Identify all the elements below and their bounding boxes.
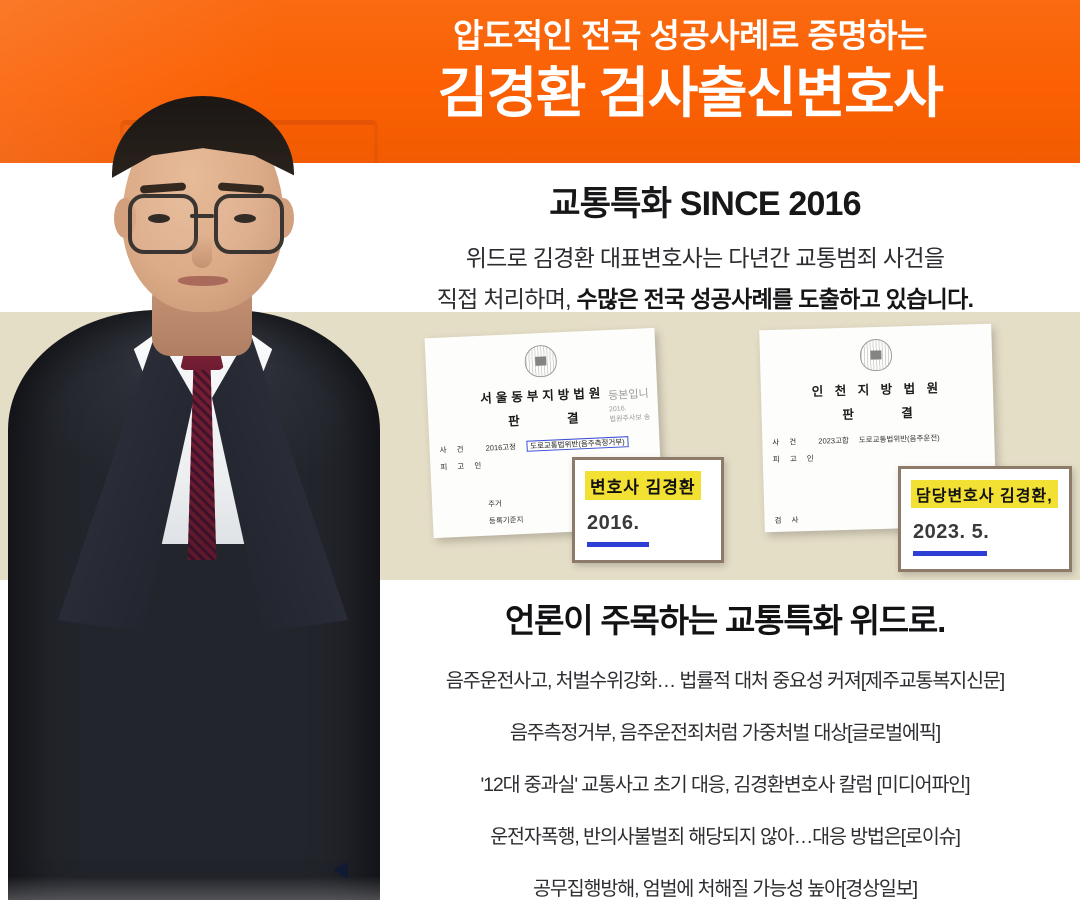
stamp-line-1: 등본입니 (608, 386, 650, 405)
advertisement-banner: 압도적인 전국 성공사례로 증명하는 김경환 검사출신변호사 교통특화 SINC… (0, 0, 1080, 900)
callout-highlight-text: 변호사 김경환 (585, 471, 701, 500)
eyeglasses-lens-right (214, 194, 284, 254)
field-value: 2023고합 (818, 437, 849, 445)
field-value: 2016고정 (485, 443, 516, 452)
callout-underline-bar (913, 551, 987, 556)
mouth (178, 276, 228, 286)
field-label (443, 521, 489, 523)
callout-document-2: 담당변호사 김경환, 2023. 5. (898, 466, 1072, 572)
callout-date: 2023. 5. (913, 521, 989, 544)
intro-block: 교통특화 SINCE 2016 위드로 김경환 대표변호사는 다년간 교통범죄 … (330, 166, 1080, 314)
certified-copy-stamp: 등본입니 2016. 법원주사보 송 (608, 386, 651, 426)
intro-paragraph-line1: 위드로 김경환 대표변호사는 다년간 교통범죄 사건을 (330, 239, 1080, 273)
eyeglasses-lens-left (128, 194, 198, 254)
field-label: 피 고 인 (773, 454, 819, 463)
play-triangle-icon[interactable] (333, 861, 348, 879)
header-title: 김경환 검사출신변호사 (300, 64, 1080, 122)
media-article-item: 음주측정거부, 음주운전죄처럼 가중처벌 대상[글로벌에픽] (370, 716, 1080, 745)
header-text-block: 압도적인 전국 성공사례로 증명하는 김경환 검사출신변호사 (300, 0, 1080, 122)
field-label: 피 고 인 (440, 461, 486, 471)
media-article-item: 음주운전사고, 처벌수위강화… 법률적 대처 중요성 커져[제주교통복지신문] (370, 664, 1080, 693)
field-value: 주거 (488, 500, 502, 508)
eyeglasses-bridge (190, 214, 214, 218)
intro-paragraph-line2: 직접 처리하며, 수많은 전국 성공사례를 도출하고 있습니다. (330, 280, 1080, 314)
field-label: 검 사 (774, 515, 820, 524)
callout-underline-bar (587, 542, 649, 547)
media-article-item: 운전자폭행, 반의사불벌죄 해당되지 않아…대응 방법은[로이슈] (370, 820, 1080, 849)
field-value: 등록기준지 (489, 516, 524, 525)
media-article-item: '12대 중과실' 교통사고 초기 대응, 김경환변호사 칼럼 [미디어파인] (370, 768, 1080, 797)
media-article-item: 공무집행방해, 엄벌에 처해질 가능성 높아[경상일보] (370, 872, 1080, 900)
media-section-title: 언론이 주목하는 교통특화 위드로. (370, 594, 1080, 642)
document-type-label: 판 결 (761, 400, 993, 425)
field-label (442, 504, 488, 506)
court-emblem-icon (524, 344, 557, 377)
field-label: 사 건 (440, 444, 486, 454)
intro-paragraph-line2-normal: 직접 처리하며, (437, 286, 577, 312)
court-emblem-icon (860, 339, 893, 372)
field-label: 사 건 (772, 437, 818, 446)
callout-date: 2016. (587, 512, 640, 535)
nose (192, 236, 212, 268)
court-name: 인 천 지 방 법 원 (761, 376, 993, 401)
intro-title: 교통특화 SINCE 2016 (330, 176, 1080, 225)
field-charge: 도로교통법위반(음주운전) (859, 434, 940, 444)
media-coverage-section: 언론이 주목하는 교통특화 위드로. 음주운전사고, 처벌수위강화… 법률적 대… (370, 594, 1080, 900)
media-article-list: 음주운전사고, 처벌수위강화… 법률적 대처 중요성 커져[제주교통복지신문] … (370, 664, 1080, 900)
callout-document-1: 변호사 김경환 2016. (572, 457, 724, 563)
intro-paragraph-line2-bold: 수많은 전국 성공사례를 도출하고 있습니다. (577, 286, 974, 312)
callout-highlight-text: 담당변호사 김경환, (911, 480, 1058, 508)
field-charge-boxed: 도로교통법위반(음주측정거부) (526, 436, 629, 452)
header-tagline: 압도적인 전국 성공사례로 증명하는 (300, 19, 1080, 54)
stamp-line-3: 법원주사보 송 (610, 413, 651, 426)
